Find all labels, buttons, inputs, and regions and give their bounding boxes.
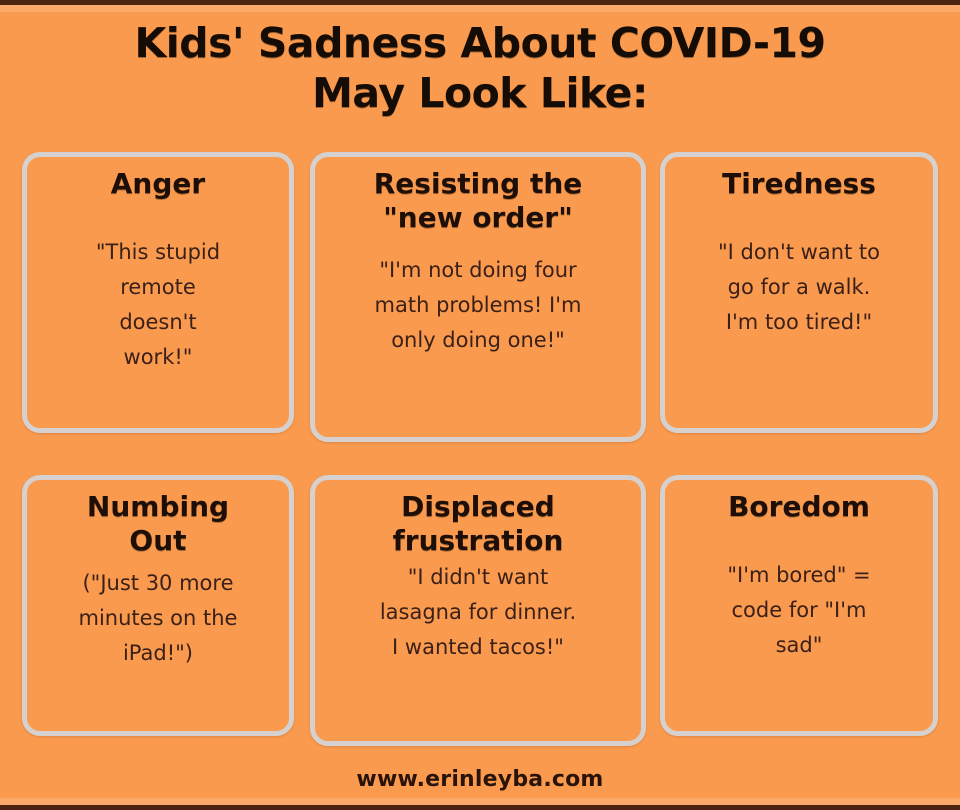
title-line-1: Kids' Sadness About COVID-19: [0, 18, 960, 68]
title-line-2: May Look Like:: [0, 68, 960, 118]
card-numbing-out-body: ("Just 30 more minutes on the iPad!"): [79, 566, 238, 671]
infographic-canvas: Kids' Sadness About COVID-19 May Look Li…: [0, 0, 960, 810]
card-numbing-out: Numbing Out ("Just 30 more minutes on th…: [22, 475, 294, 736]
top-soft-band: [0, 5, 960, 12]
card-tiredness: Tiredness "I don't want to go for a walk…: [660, 152, 938, 433]
footer: www.erinleyba.com: [0, 767, 960, 792]
card-boredom: Boredom "I'm bored" = code for "I'm sad": [660, 475, 938, 736]
card-resisting-new-order: Resisting the "new order" "I'm not doing…: [310, 152, 646, 442]
card-displaced-frustration-body: "I didn't want lasagna for dinner. I wan…: [380, 560, 576, 665]
card-displaced-frustration-heading: Displaced frustration: [393, 490, 564, 558]
footer-website-text: www.erinleyba.com: [356, 767, 603, 792]
page-title: Kids' Sadness About COVID-19 May Look Li…: [0, 18, 960, 118]
card-grid: Anger "This stupid remote doesn't work!"…: [20, 152, 940, 746]
card-boredom-heading: Boredom: [728, 490, 870, 524]
bottom-edge-strip: [0, 805, 960, 810]
card-anger: Anger "This stupid remote doesn't work!": [22, 152, 294, 433]
card-boredom-body: "I'm bored" = code for "I'm sad": [727, 558, 870, 663]
card-resisting-new-order-body: "I'm not doing four math problems! I'm o…: [375, 253, 582, 358]
card-tiredness-heading: Tiredness: [722, 167, 876, 201]
card-numbing-out-heading: Numbing Out: [87, 490, 229, 558]
card-anger-heading: Anger: [111, 167, 205, 201]
card-tiredness-body: "I don't want to go for a walk. I'm too …: [718, 235, 880, 340]
card-displaced-frustration: Displaced frustration "I didn't want las…: [310, 475, 646, 746]
bottom-soft-band: [0, 798, 960, 805]
top-edge-strip: [0, 0, 960, 5]
card-anger-body: "This stupid remote doesn't work!": [96, 235, 220, 375]
card-resisting-new-order-heading: Resisting the "new order": [374, 167, 583, 235]
